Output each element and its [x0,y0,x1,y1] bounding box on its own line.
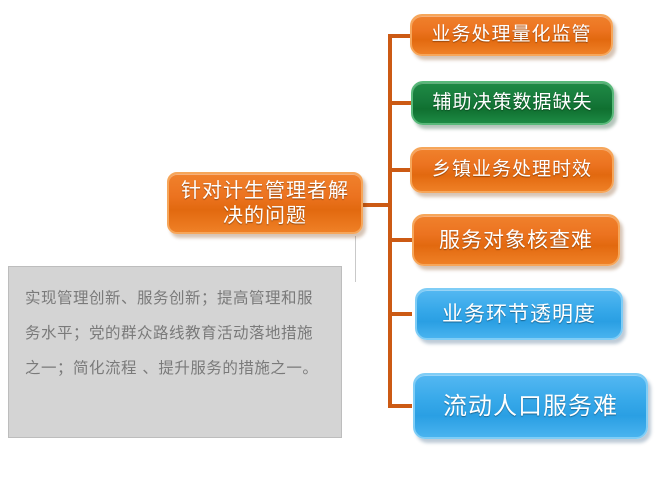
connector-branch-1 [390,34,412,38]
branch-node-5[interactable]: 业务环节透明度 [415,288,623,340]
connector-trunk-vertical [388,34,392,408]
center-node[interactable]: 针对计生管理者解决的问题 [167,172,363,234]
branch-node-4[interactable]: 服务对象核查难 [412,214,620,266]
branch-node-1[interactable]: 业务处理量化监管 [410,14,613,56]
connector-branch-2 [390,101,412,105]
connector-center-stub [362,203,390,207]
branch-node-6[interactable]: 流动人口服务难 [413,373,648,439]
diagram-canvas: 针对计生管理者解决的问题 业务处理量化监管 辅助决策数据缺失 乡镇业务处理时效 … [0,0,659,477]
decorative-vertical-rule [355,236,356,282]
connector-branch-3 [390,168,412,172]
branch-node-3[interactable]: 乡镇业务处理时效 [410,147,614,193]
connector-branch-5 [390,312,412,316]
note-box: 实现管理创新、服务创新；提高管理和服务水平；党的群众路线教育活动落地措施之一；简… [8,266,342,438]
connector-branch-4 [390,238,412,242]
connector-branch-6 [390,404,412,408]
branch-node-2[interactable]: 辅助决策数据缺失 [411,81,614,125]
